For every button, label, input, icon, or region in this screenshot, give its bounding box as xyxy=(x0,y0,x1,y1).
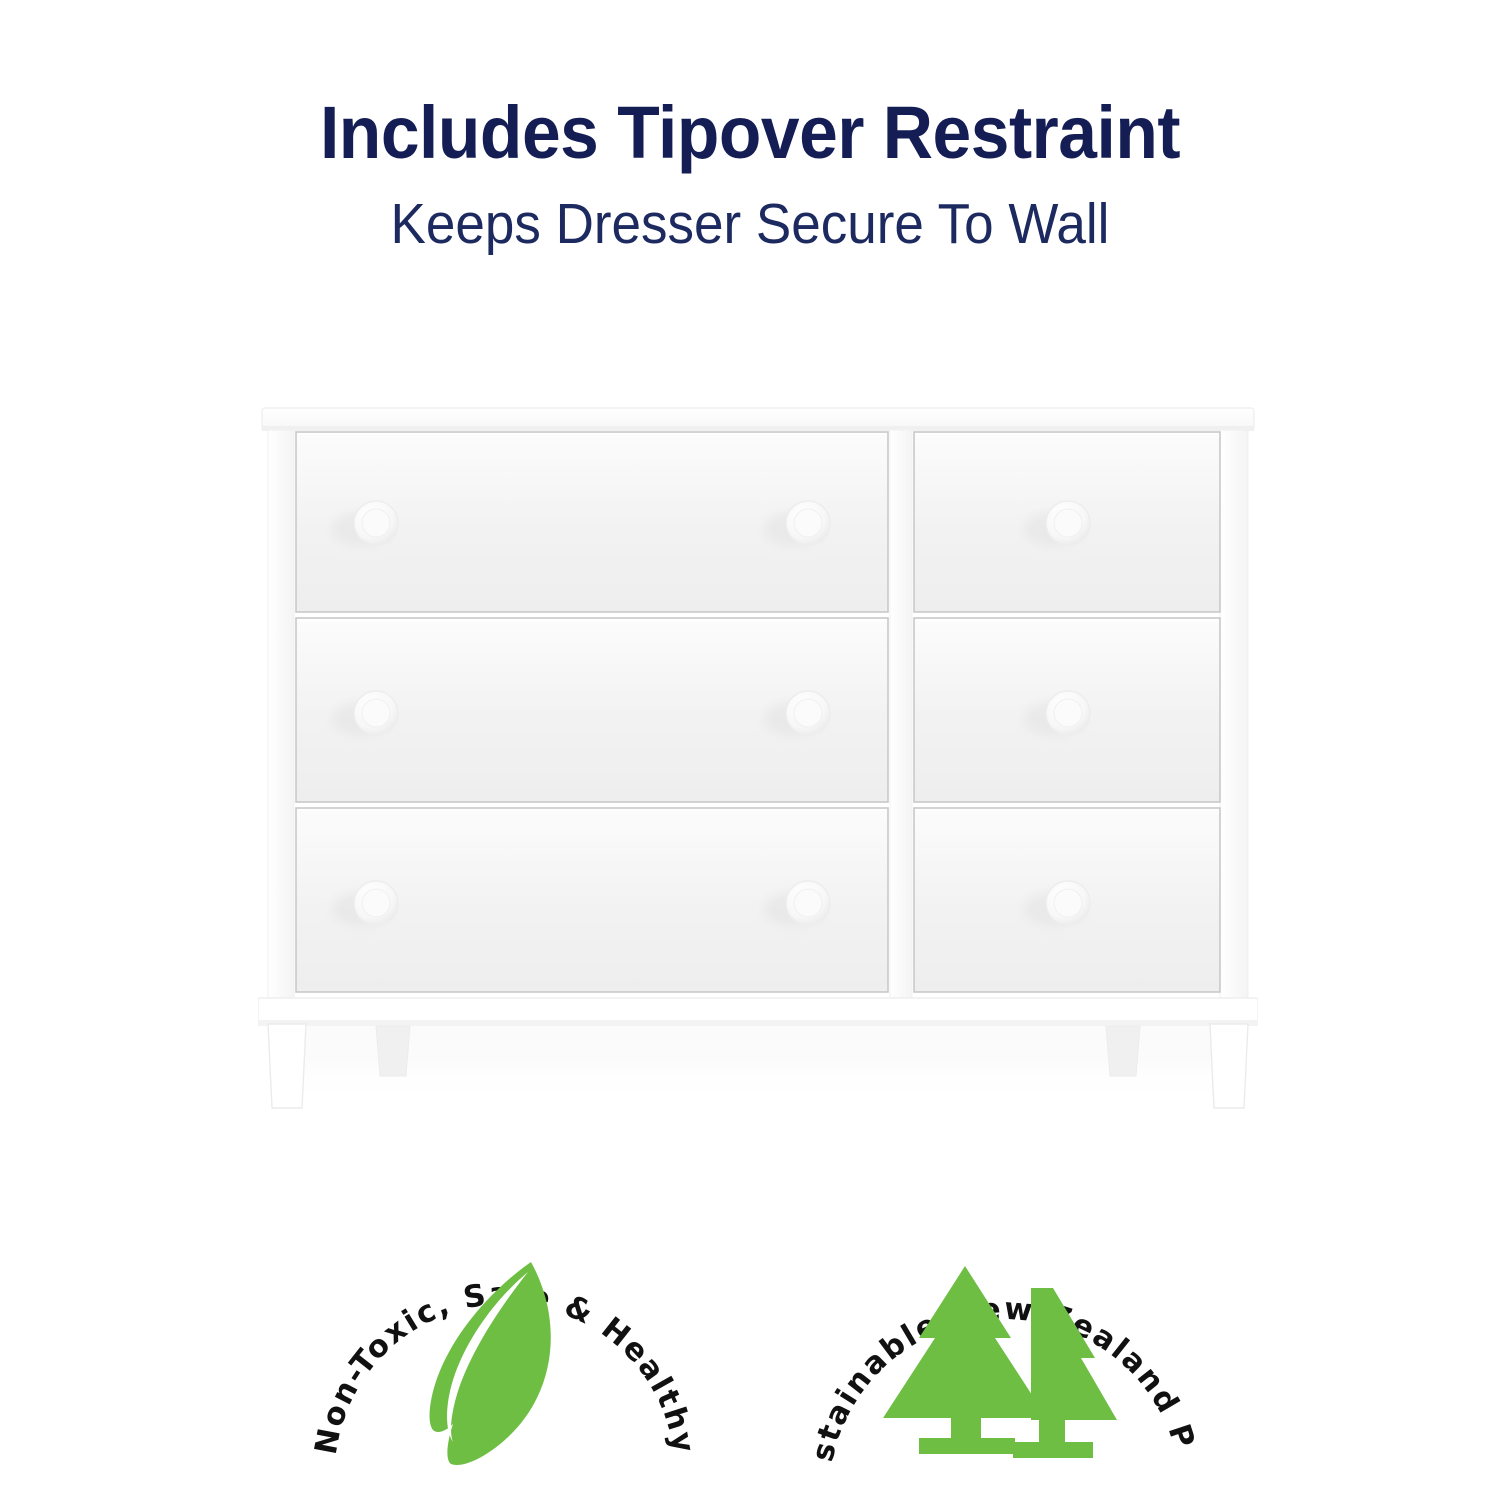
right-drawer-2[interactable] xyxy=(914,618,1220,802)
drawer-knob[interactable] xyxy=(1046,881,1090,925)
product-image-dresser xyxy=(258,396,1258,1116)
drawer-knob[interactable] xyxy=(354,501,398,545)
drawer-knob[interactable] xyxy=(786,881,830,925)
page-title: Includes Tipover Restraint xyxy=(45,96,1455,170)
drawer-knob[interactable] xyxy=(354,691,398,735)
drawer-knob[interactable] xyxy=(354,881,398,925)
left-drawer-3[interactable] xyxy=(296,808,888,992)
left-drawer-1[interactable] xyxy=(296,432,888,612)
leg-rear-left xyxy=(376,1026,410,1076)
base-plinth xyxy=(258,998,1258,1026)
left-drawer-2[interactable] xyxy=(296,618,888,802)
badge-sustainable-pine: Sustainable New Zealand Pine xyxy=(795,1180,1215,1500)
drawer-knob[interactable] xyxy=(1046,501,1090,545)
center-divider xyxy=(890,430,912,1004)
page-subtitle: Keeps Dresser Secure To Wall xyxy=(53,196,1448,253)
right-drawer-3[interactable] xyxy=(914,808,1220,992)
leg-front-right xyxy=(1210,1024,1248,1108)
drawer-knob[interactable] xyxy=(786,501,830,545)
right-drawer-1[interactable] xyxy=(914,432,1220,612)
leg-rear-right xyxy=(1106,1026,1140,1076)
table-top xyxy=(262,408,1254,431)
leg-front-left xyxy=(268,1024,306,1108)
base-apron xyxy=(306,1026,1210,1062)
certification-badges: Non-Toxic, Safe & Healthy Sustainable Ne… xyxy=(0,1180,1500,1500)
right-side-panel xyxy=(1220,430,1248,1004)
headline-block: Includes Tipover Restraint Keeps Dresser… xyxy=(0,96,1500,253)
badge-non-toxic: Non-Toxic, Safe & Healthy xyxy=(295,1180,715,1500)
left-side-panel xyxy=(268,430,294,1004)
drawer-knob[interactable] xyxy=(786,691,830,735)
drawer-knob[interactable] xyxy=(1046,691,1090,735)
